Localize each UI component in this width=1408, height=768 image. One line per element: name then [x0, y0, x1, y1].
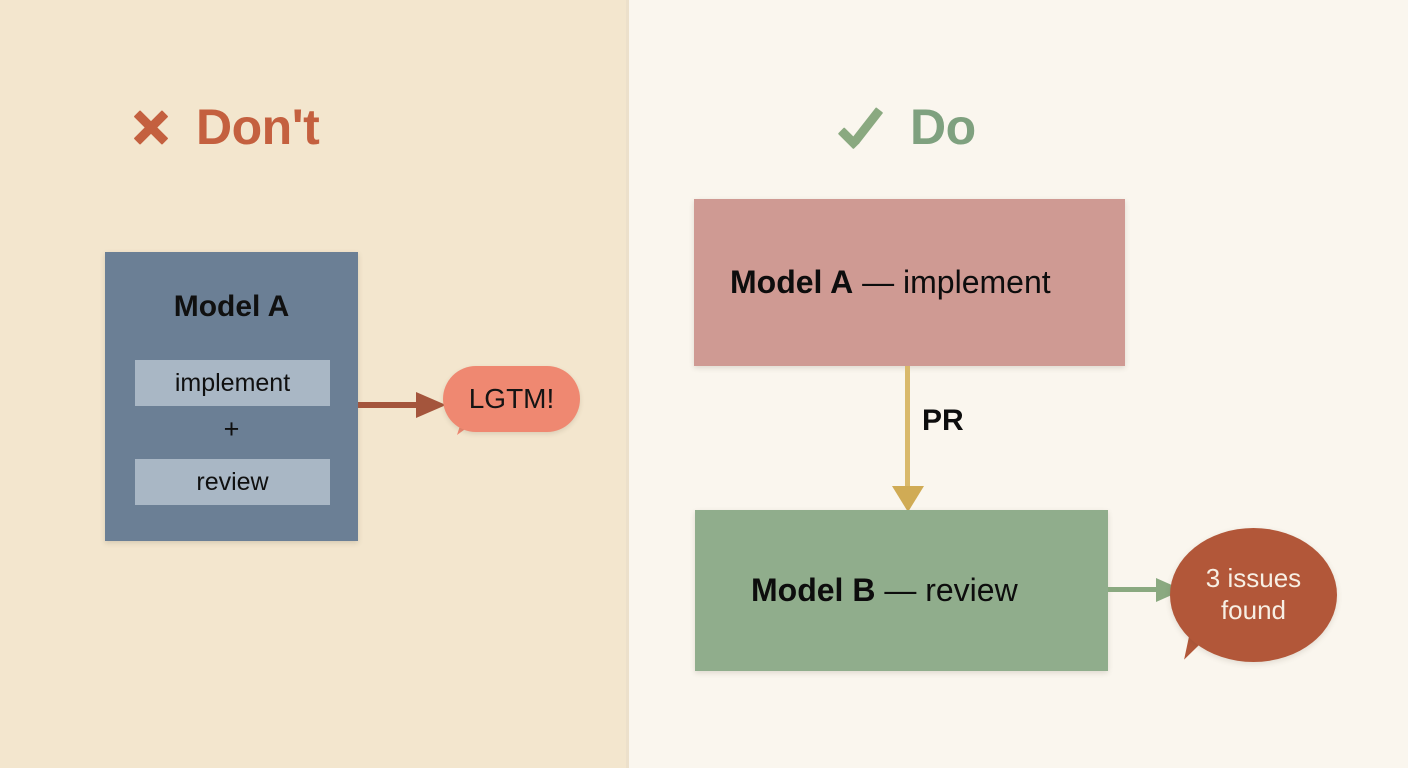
pr-arrow-shaft	[905, 366, 910, 491]
dont-heading: Don't	[128, 98, 319, 156]
lgtm-arrow-shaft	[358, 402, 420, 408]
comparison-diagram: Don't Do Model A implement + review LGTM…	[0, 0, 1408, 768]
dont-heading-label: Don't	[196, 98, 319, 156]
issues-bubble-line-1: 3 issues	[1206, 563, 1301, 595]
model-b-role: — review	[875, 572, 1017, 608]
model-a-implement-box: Model A — implement	[694, 199, 1125, 366]
lgtm-bubble: LGTM!	[443, 366, 580, 432]
do-heading: Do	[838, 98, 976, 156]
subtask-chip-review: review	[135, 459, 330, 505]
model-a-combined-title: Model A	[105, 290, 358, 324]
do-heading-label: Do	[910, 98, 976, 156]
panel-divider	[626, 0, 629, 768]
model-b-name: Model B	[751, 572, 875, 608]
model-b-review-label: Model B — review	[695, 572, 1018, 609]
lgtm-arrow-head	[416, 392, 446, 418]
model-a-combined-box: Model A implement + review	[105, 252, 358, 541]
issues-found-bubble: 3 issues found	[1170, 528, 1337, 662]
issues-bubble-line-2: found	[1221, 595, 1286, 627]
model-a-role: — implement	[853, 264, 1050, 300]
subtask-separator: +	[105, 414, 358, 445]
model-a-name: Model A	[730, 264, 853, 300]
model-b-review-box: Model B — review	[695, 510, 1108, 671]
issues-arrow-shaft	[1108, 587, 1160, 592]
lgtm-arrow	[358, 392, 450, 418]
pr-arrow-head	[892, 486, 924, 512]
model-a-implement-label: Model A — implement	[694, 264, 1051, 301]
check-icon	[838, 104, 888, 150]
pr-arrow-label: PR	[922, 404, 964, 438]
cross-icon	[128, 104, 174, 150]
subtask-chip-implement: implement	[135, 360, 330, 406]
